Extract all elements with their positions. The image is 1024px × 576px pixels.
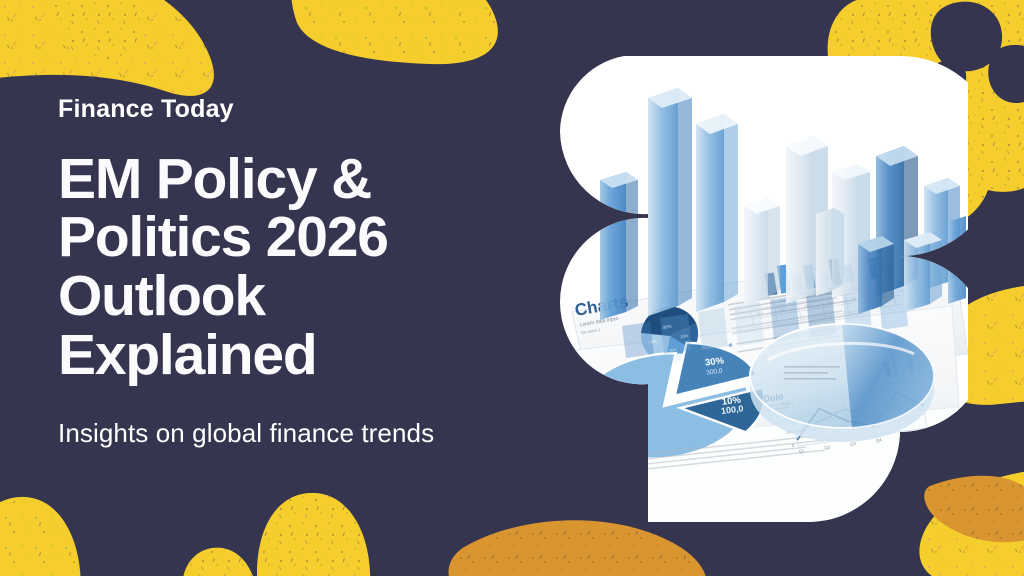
deco-bottom-orange-leaf [449,520,707,576]
pie-label-60: 60% [610,403,634,418]
photo-clip-group: Charts Lorem data input Sit amet 1 40% 1… [552,54,968,522]
deco-top-mid-blob [291,0,498,64]
svg-text:Q2: Q2 [924,430,931,436]
glass-bar-7 [816,208,844,296]
subtitle: Insights on global finance trends [58,418,528,449]
glass-bar-1 [600,172,638,320]
glass-bar-4 [744,198,780,306]
svg-text:Dolore 1: Dolore 1 [555,436,590,450]
deco-bottom-petal-3 [257,493,370,576]
glass-bar-2 [648,88,692,316]
social-card: Finance Today EM Policy & Politics 2026 … [0,0,1024,576]
photo-pie-footer: Dolore 1 [555,434,603,457]
glass-bar-3 [696,114,738,312]
eyebrow-label: Finance Today [58,96,528,124]
page-title: EM Policy & Politics 2026 Outlook Explai… [58,150,528,385]
svg-text:600,0: 600,0 [613,416,631,425]
deco-top-left-lobe [44,0,146,61]
text-column: Finance Today EM Policy & Politics 2026 … [58,96,528,450]
glass-bar-12 [948,216,966,304]
magnifying-lens [750,324,934,442]
deco-bottom-petal-1 [0,497,81,576]
hero-photo: Charts Lorem data input Sit amet 1 40% 1… [552,54,968,522]
svg-text:Q1: Q1 [901,434,908,440]
deco-top-left-arc [0,0,214,96]
deco-bottom-petal-2 [182,548,258,576]
